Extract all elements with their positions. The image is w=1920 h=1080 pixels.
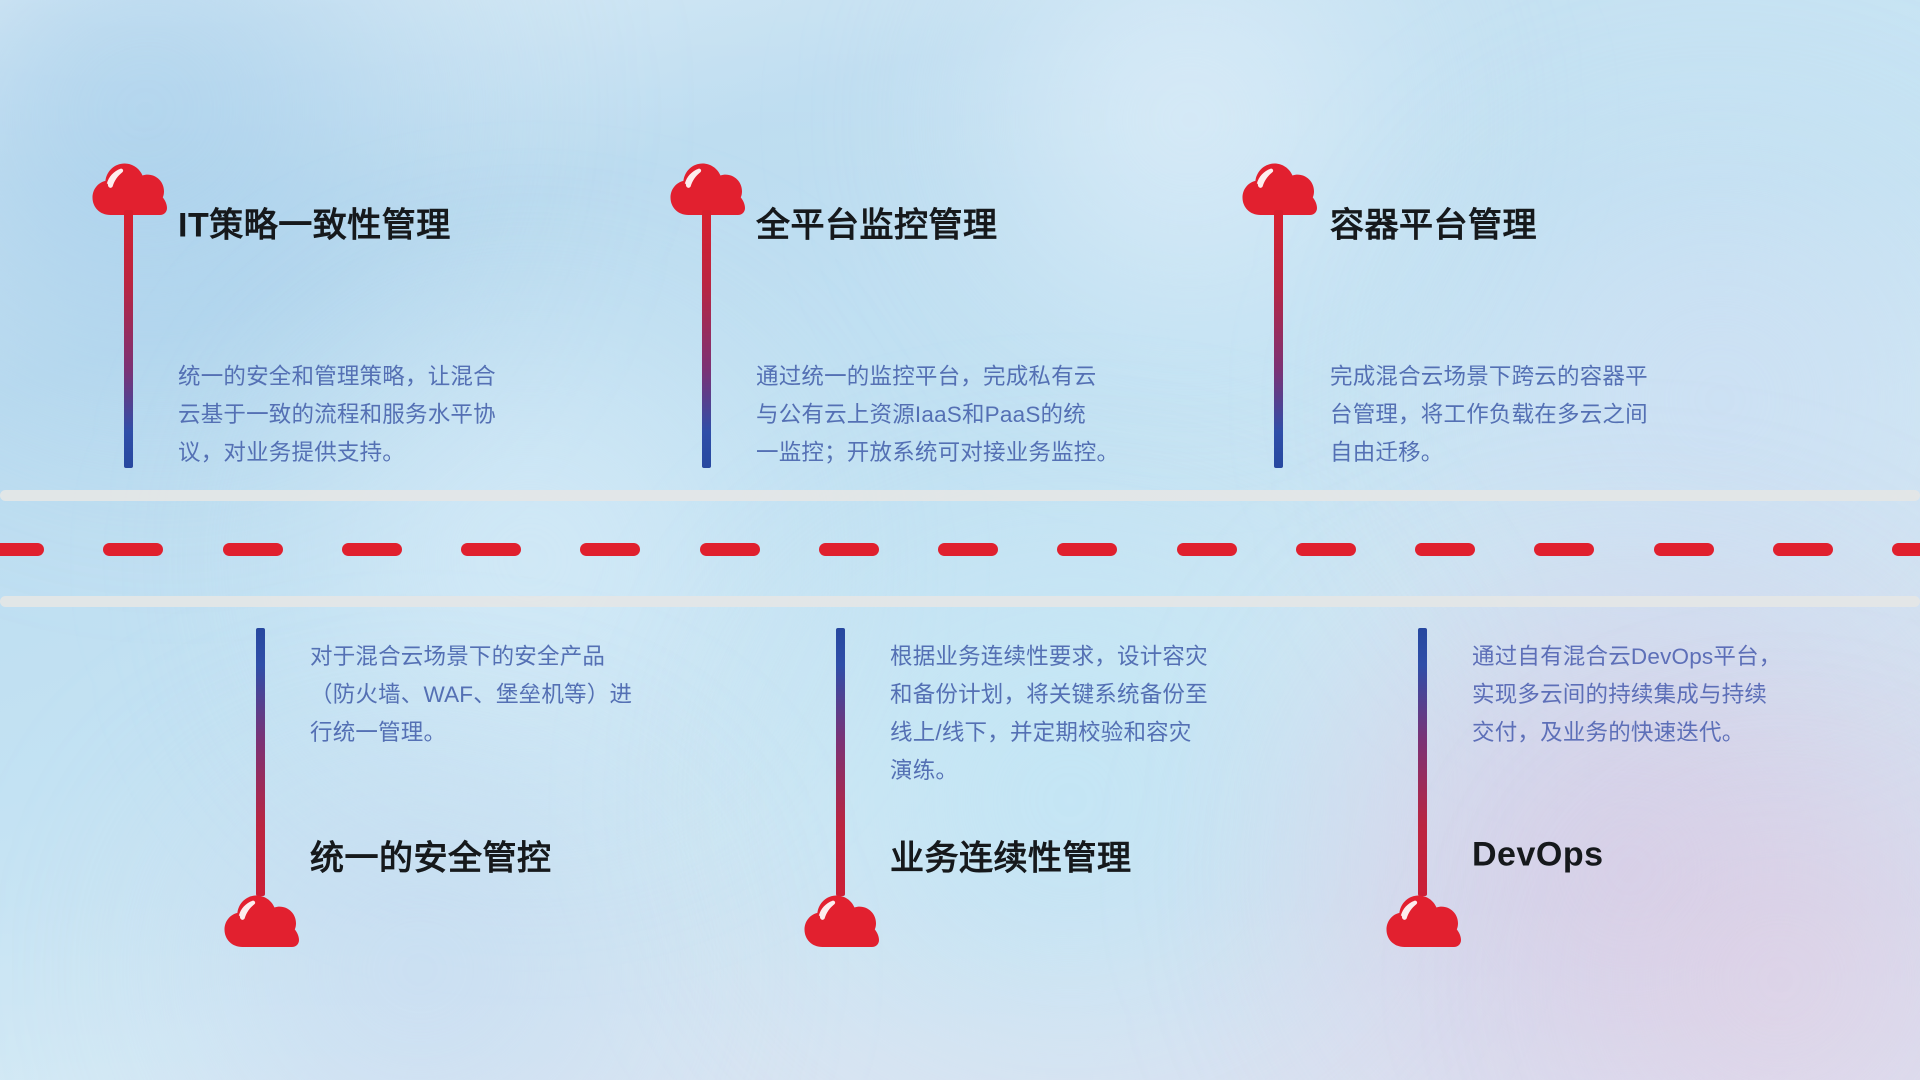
road-dash bbox=[1296, 543, 1356, 556]
road-dash bbox=[0, 543, 44, 556]
top-item-body: 完成混合云场景下跨云的容器平 台管理，将工作负载在多云之间 自由迁移。 bbox=[1330, 358, 1780, 472]
cloud-icon bbox=[802, 890, 880, 950]
top-item-heading: 全平台监控管理 bbox=[756, 198, 998, 247]
road-dash bbox=[819, 543, 879, 556]
road-dash bbox=[1892, 543, 1920, 556]
top-item-heading: IT策略一致性管理 bbox=[178, 198, 451, 247]
road-dash bbox=[1057, 543, 1117, 556]
road-rail-top bbox=[0, 490, 1920, 501]
road-dash bbox=[1654, 543, 1714, 556]
cloud-icon bbox=[1240, 158, 1318, 218]
road-dash bbox=[342, 543, 402, 556]
road-dash bbox=[1177, 543, 1237, 556]
top-item-body: 统一的安全和管理策略，让混合 云基于一致的流程和服务水平协 议，对业务提供支持。 bbox=[178, 358, 608, 472]
road-center-dashes bbox=[0, 543, 1920, 556]
top-item-body: 通过统一的监控平台，完成私有云 与公有云上资源IaaS和PaaS的统 一监控；开… bbox=[756, 358, 1226, 472]
road-dash bbox=[461, 543, 521, 556]
connector-pin bbox=[702, 210, 711, 468]
top-item-heading: 容器平台管理 bbox=[1330, 198, 1537, 247]
bottom-item-heading: DevOps bbox=[1472, 836, 1604, 875]
bottom-item-heading: 业务连续性管理 bbox=[890, 831, 1132, 880]
cloud-icon bbox=[222, 890, 300, 950]
road-dash bbox=[103, 543, 163, 556]
bottom-item-body: 对于混合云场景下的安全产品 （防火墙、WAF、堡垒机等）进 行统一管理。 bbox=[310, 638, 740, 752]
road-dash bbox=[700, 543, 760, 556]
road-dash bbox=[223, 543, 283, 556]
road-dash bbox=[938, 543, 998, 556]
cloud-icon bbox=[668, 158, 746, 218]
road-dash bbox=[1773, 543, 1833, 556]
bottom-item-body: 通过自有混合云DevOps平台， 实现多云间的持续集成与持续 交付，及业务的快速… bbox=[1472, 638, 1902, 752]
cloud-icon bbox=[90, 158, 168, 218]
infographic-canvas: IT策略一致性管理 统一的安全和管理策略，让混合 云基于一致的流程和服务水平协 … bbox=[0, 0, 1920, 1080]
bottom-item-body: 根据业务连续性要求，设计容灾 和备份计划，将关键系统备份至 线上/线下，并定期校… bbox=[890, 638, 1330, 790]
connector-pin bbox=[124, 210, 133, 468]
road-dash bbox=[1415, 543, 1475, 556]
connector-pin bbox=[836, 628, 845, 896]
connector-pin bbox=[256, 628, 265, 896]
cloud-icon bbox=[1384, 890, 1462, 950]
road-dash bbox=[1534, 543, 1594, 556]
road-rail-bottom bbox=[0, 596, 1920, 607]
road-dash bbox=[580, 543, 640, 556]
connector-pin bbox=[1418, 628, 1427, 896]
connector-pin bbox=[1274, 210, 1283, 468]
bottom-item-heading: 统一的安全管控 bbox=[310, 831, 552, 880]
